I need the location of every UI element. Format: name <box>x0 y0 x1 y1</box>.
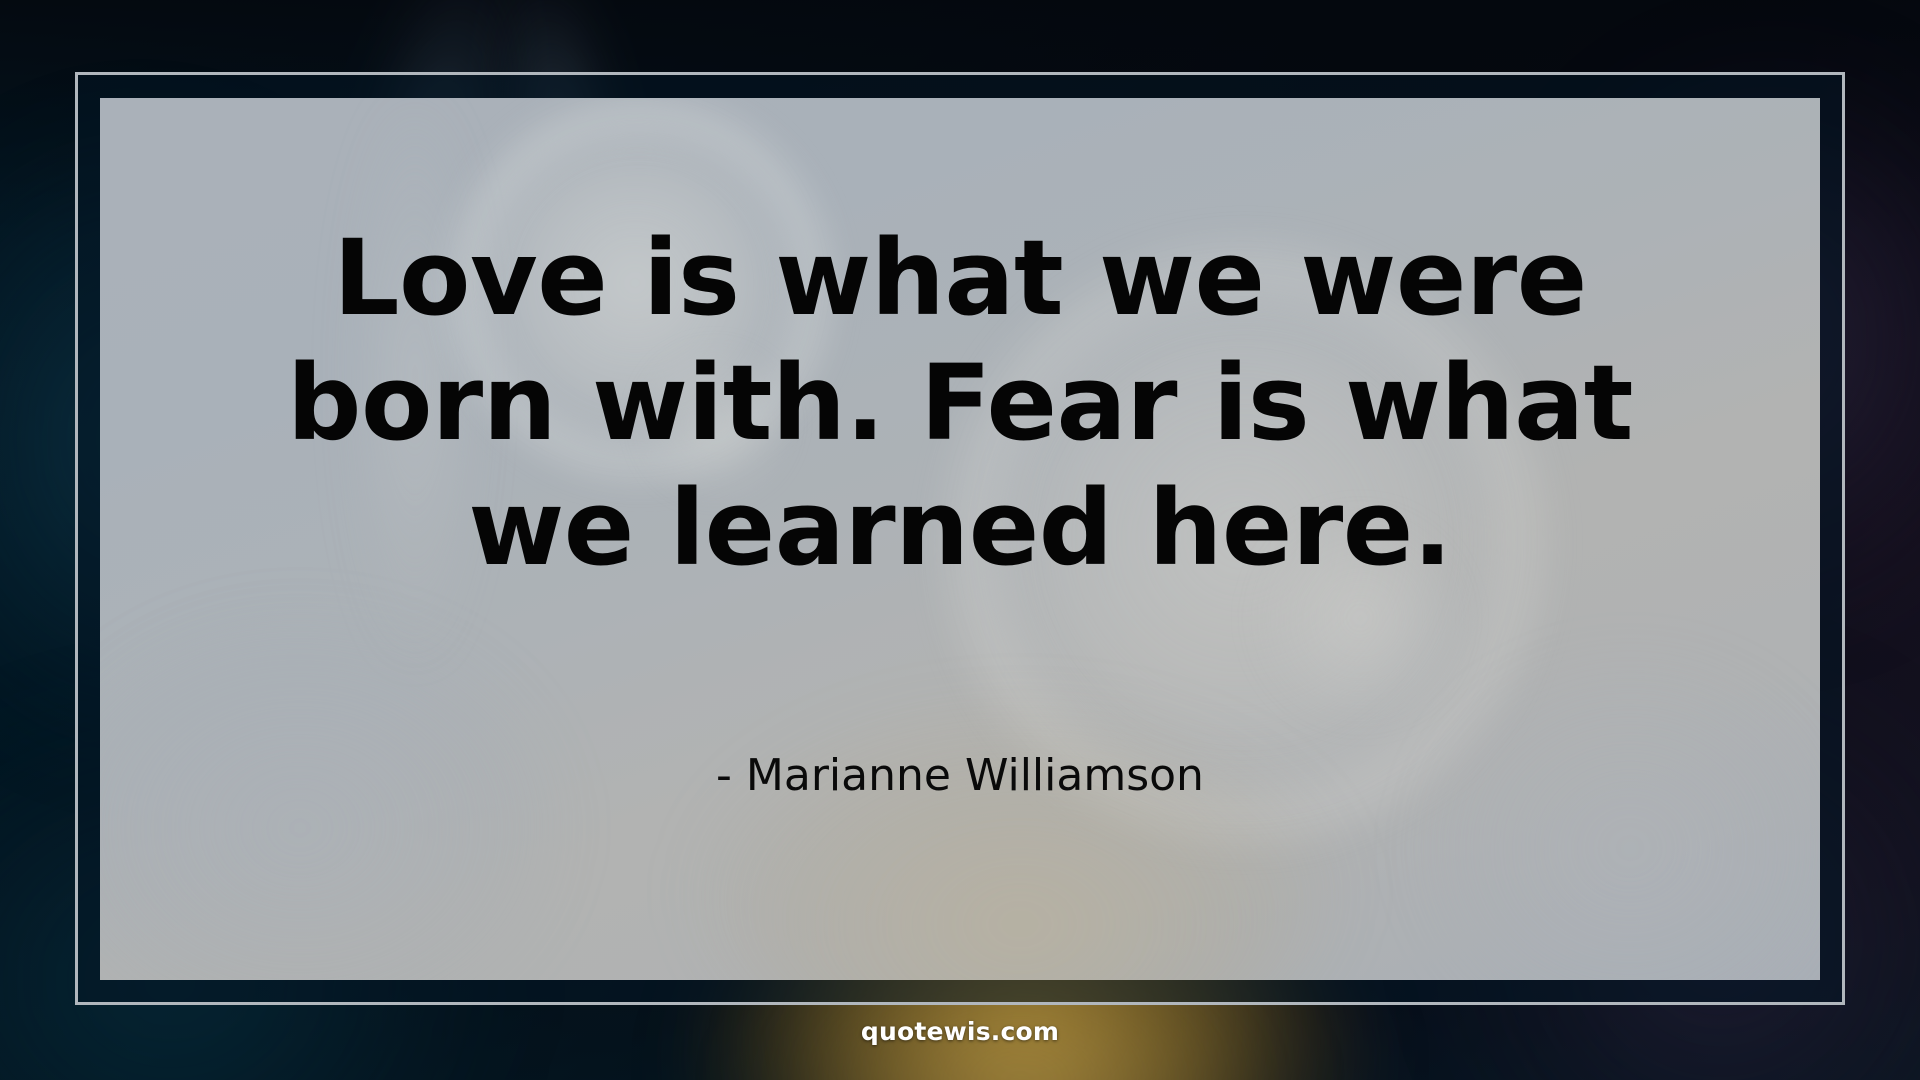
quote-card: Love is what we were born with. Fear is … <box>0 0 1920 1080</box>
quote-panel: Love is what we were born with. Fear is … <box>100 98 1820 980</box>
watermark-label: quotewis.com <box>861 1017 1059 1046</box>
watermark: quotewis.com <box>0 1006 1920 1056</box>
quote-author: - Marianne Williamson <box>170 750 1750 801</box>
panel-bokeh-blob-bottom-right <box>1420 658 1820 980</box>
panel-bokeh-warm-bottom <box>700 708 1340 980</box>
quote-text: Love is what we were born with. Fear is … <box>170 216 1750 590</box>
